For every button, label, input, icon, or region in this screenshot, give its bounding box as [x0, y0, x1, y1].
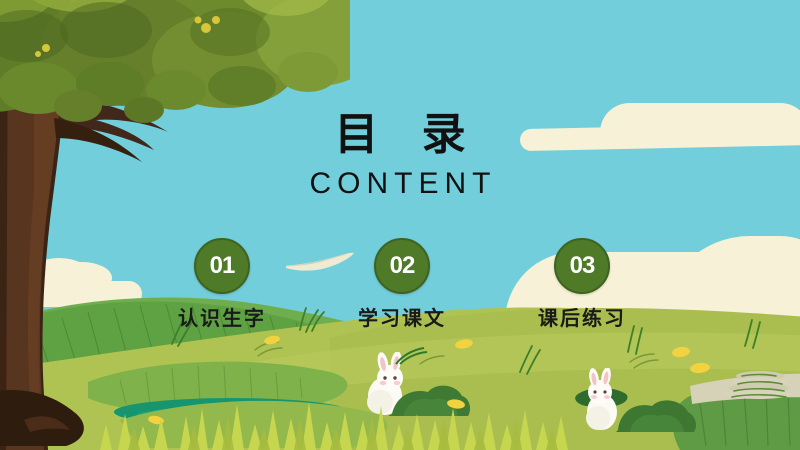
tree-canopy — [0, 0, 350, 210]
content-items: 01 认识生字 02 学习课文 03 课后练习 — [0, 238, 800, 338]
content-number-badge-02[interactable]: 02 — [374, 238, 430, 294]
content-label-01[interactable]: 认识生字 — [142, 302, 302, 331]
foreground-grass — [0, 390, 800, 450]
content-label-02[interactable]: 学习课文 — [322, 302, 482, 331]
presentation-slide: 目 录 CONTENT 01 认识生字 02 学习课文 03 课后练习 — [0, 0, 800, 450]
grass-tuft — [394, 346, 430, 366]
content-number-badge-01[interactable]: 01 — [194, 238, 250, 294]
content-label-03[interactable]: 课后练习 — [502, 302, 662, 331]
content-item-02[interactable]: 02 学习课文 — [322, 238, 482, 331]
content-item-03[interactable]: 03 课后练习 — [502, 238, 662, 331]
content-item-01[interactable]: 01 认识生字 — [142, 238, 302, 331]
content-number-badge-03[interactable]: 03 — [554, 238, 610, 294]
